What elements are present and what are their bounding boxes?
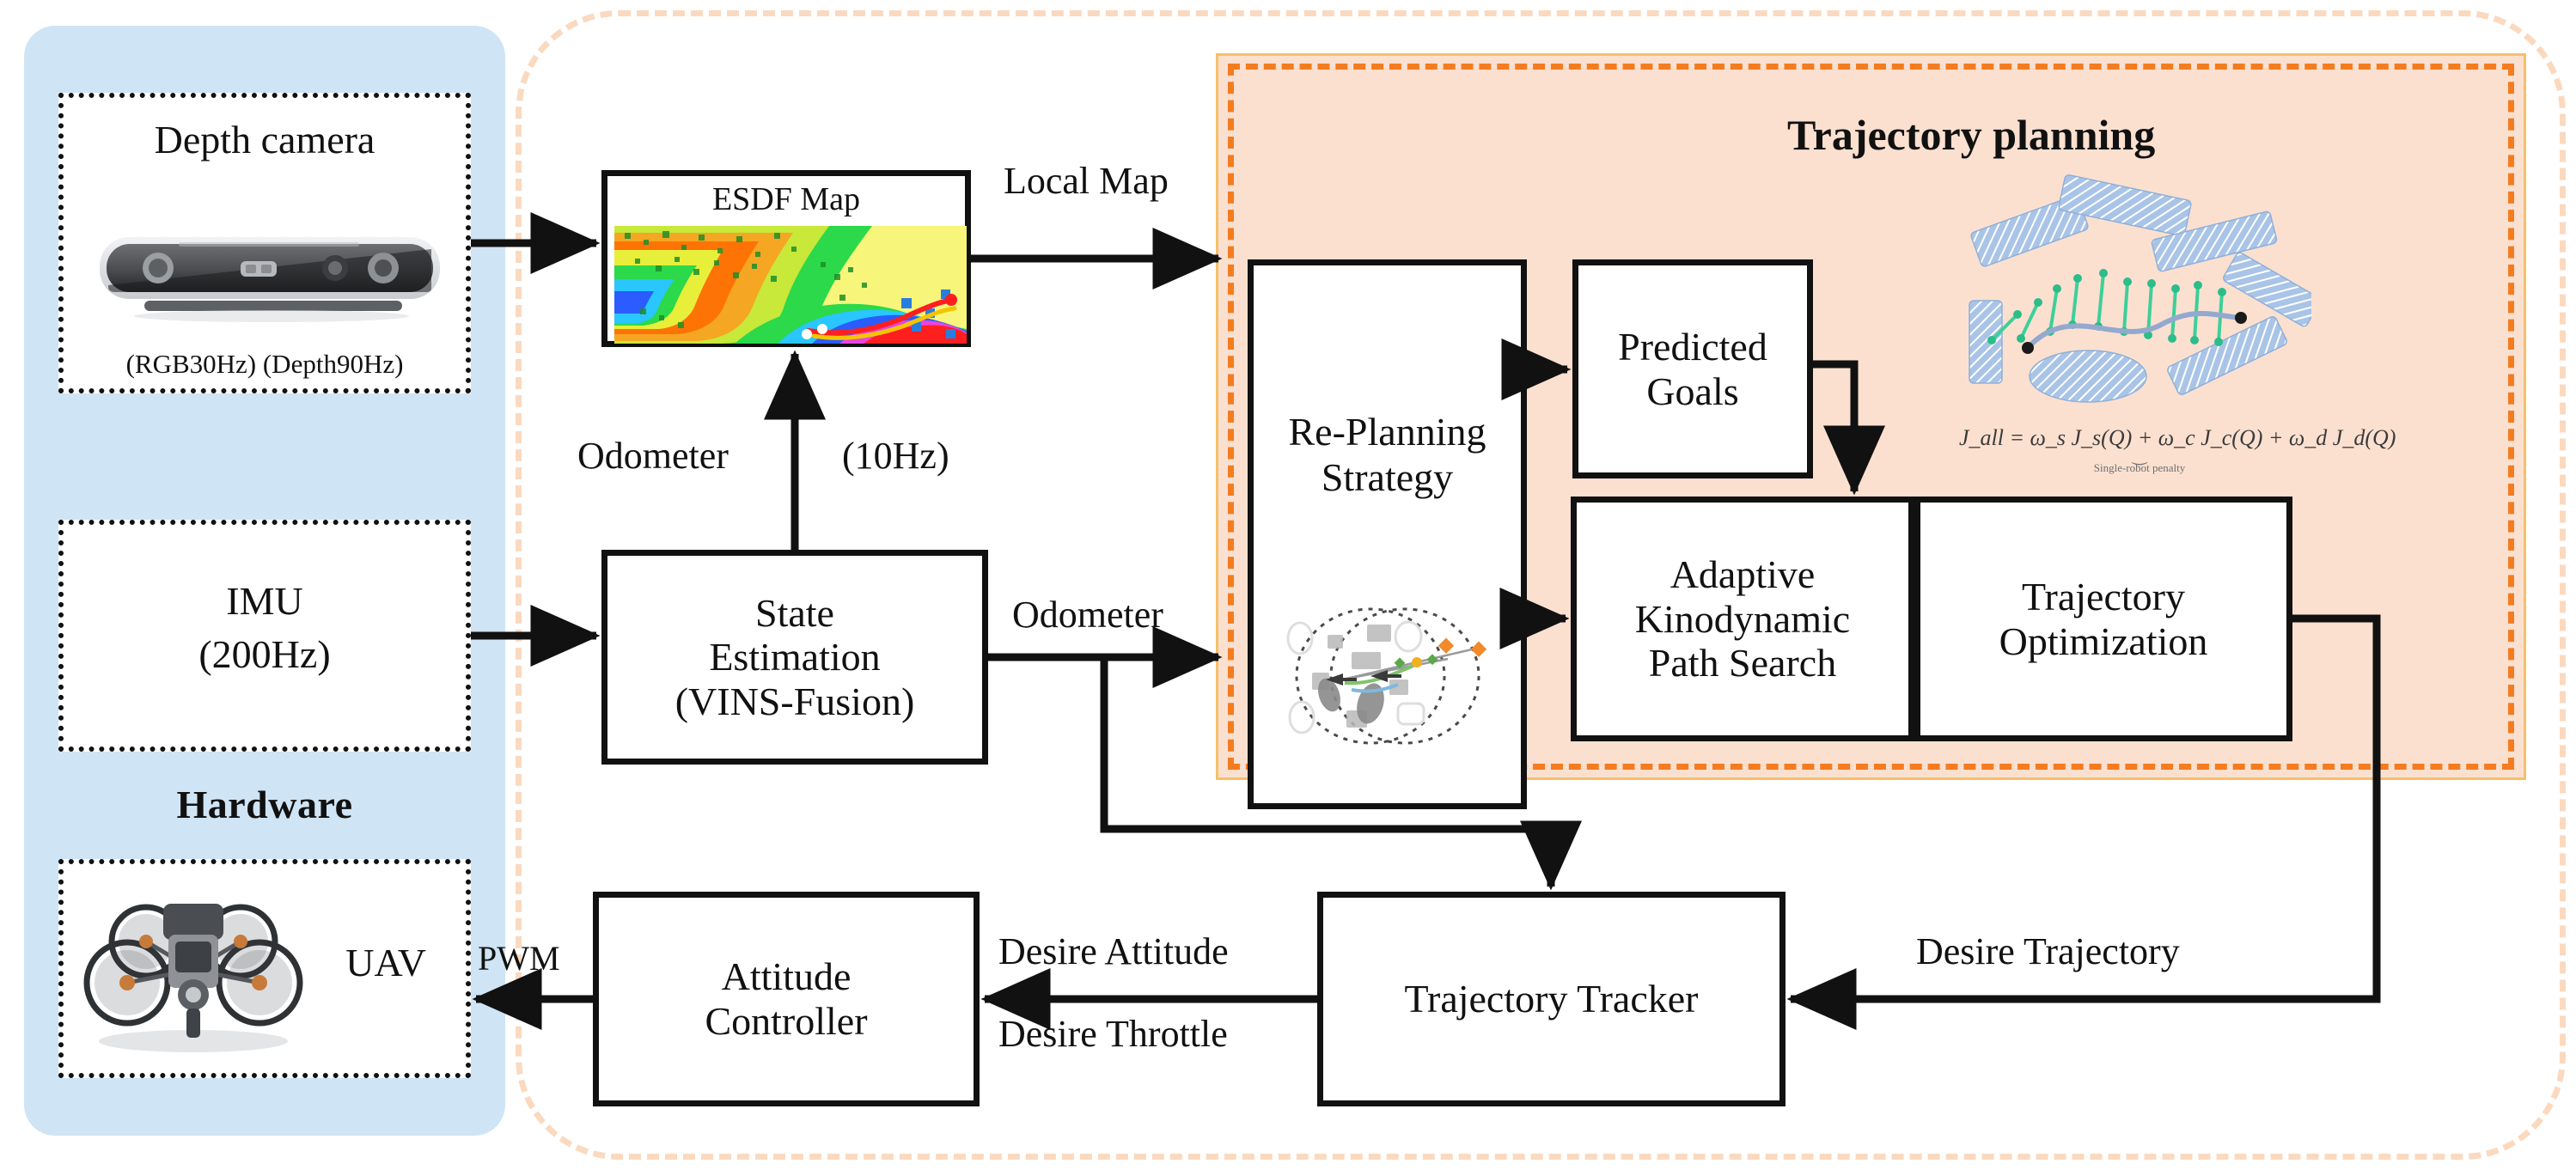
- depth-camera-subtitle: (RGB30Hz) (Depth90Hz): [64, 349, 466, 380]
- edge-label-pwm: PWM: [478, 938, 560, 978]
- attitude-controller-line1: Attitude: [705, 954, 867, 999]
- depth-camera-icon: [96, 225, 443, 328]
- edge-label-desire-throttle: Desire Throttle: [998, 1012, 1228, 1056]
- kinodynamic-line1: Adaptive: [1635, 552, 1850, 597]
- replanning-strategy-line2: Strategy: [1254, 455, 1521, 501]
- trajectory-optimization-module: Trajectory Optimization: [1914, 497, 2292, 741]
- predicted-goals-line2: Goals: [1618, 369, 1767, 414]
- predicted-goals-line1: Predicted: [1618, 325, 1767, 369]
- replanning-illustration: [1269, 583, 1518, 772]
- esdf-map-title: ESDF Map: [607, 181, 965, 218]
- attitude-controller-module: Attitude Controller: [593, 892, 980, 1106]
- trajectory-tracker-label: Trajectory Tracker: [1405, 977, 1699, 1021]
- predicted-goals-module: Predicted Goals: [1572, 259, 1813, 478]
- state-estimation-line3: (VINS-Fusion): [675, 679, 915, 724]
- state-estimation-line1: State: [675, 591, 915, 636]
- edge-label-desire-trajectory: Desire Trajectory: [1916, 929, 2180, 973]
- edge-label-desire-attitude: Desire Attitude: [998, 929, 1229, 973]
- formula-underbrace: ‿: [1959, 451, 2320, 461]
- replanning-strategy-line1: Re-Planning: [1254, 410, 1521, 455]
- adaptive-kinodynamic-path-search-module: Adaptive Kinodynamic Path Search: [1571, 497, 1914, 741]
- edge-label-odometer-to-planner: Odometer: [1012, 593, 1163, 637]
- uav-module: UAV: [58, 859, 471, 1078]
- esdf-map-module: ESDF Map: [601, 170, 971, 347]
- system-architecture-diagram: Depth camera: [0, 0, 2576, 1170]
- edge-label-odometer-to-map: Odometer: [577, 434, 729, 478]
- trajectory-corridor-illustration: [1968, 172, 2311, 421]
- esdf-heatmap-image: [614, 226, 967, 344]
- trajectory-optimization-line1: Trajectory: [1999, 575, 2208, 619]
- state-estimation-line2: Estimation: [675, 635, 915, 679]
- state-estimation-module: State Estimation (VINS-Fusion): [601, 550, 988, 765]
- attitude-controller-line2: Controller: [705, 999, 867, 1044]
- cost-function-formula: J_all = ω_s J_s(Q) + ω_c J_c(Q) + ω_d J_…: [1959, 425, 2320, 475]
- formula-caption: Single-robot penalty: [1959, 461, 2320, 475]
- trajectory-optimization-line2: Optimization: [1999, 619, 2208, 664]
- trajectory-planning-title: Trajectory planning: [1787, 110, 2155, 160]
- replanning-strategy-module: Re-Planning Strategy: [1248, 259, 1527, 809]
- edge-label-map-rate: (10Hz): [842, 434, 949, 478]
- trajectory-tracker-module: Trajectory Tracker: [1317, 892, 1785, 1106]
- kinodynamic-line2: Kinodynamic: [1635, 597, 1850, 642]
- uav-label: UAV: [345, 940, 426, 985]
- imu-title: IMU: [64, 578, 466, 624]
- quadcopter-icon: [77, 888, 309, 1060]
- depth-camera-title: Depth camera: [64, 117, 466, 162]
- hardware-section-label: Hardware: [24, 782, 505, 827]
- imu-module: IMU (200Hz): [58, 520, 471, 752]
- imu-subtitle: (200Hz): [64, 631, 466, 677]
- depth-camera-module: Depth camera: [58, 93, 471, 393]
- edge-label-local-map: Local Map: [1004, 159, 1169, 203]
- kinodynamic-line3: Path Search: [1635, 641, 1850, 686]
